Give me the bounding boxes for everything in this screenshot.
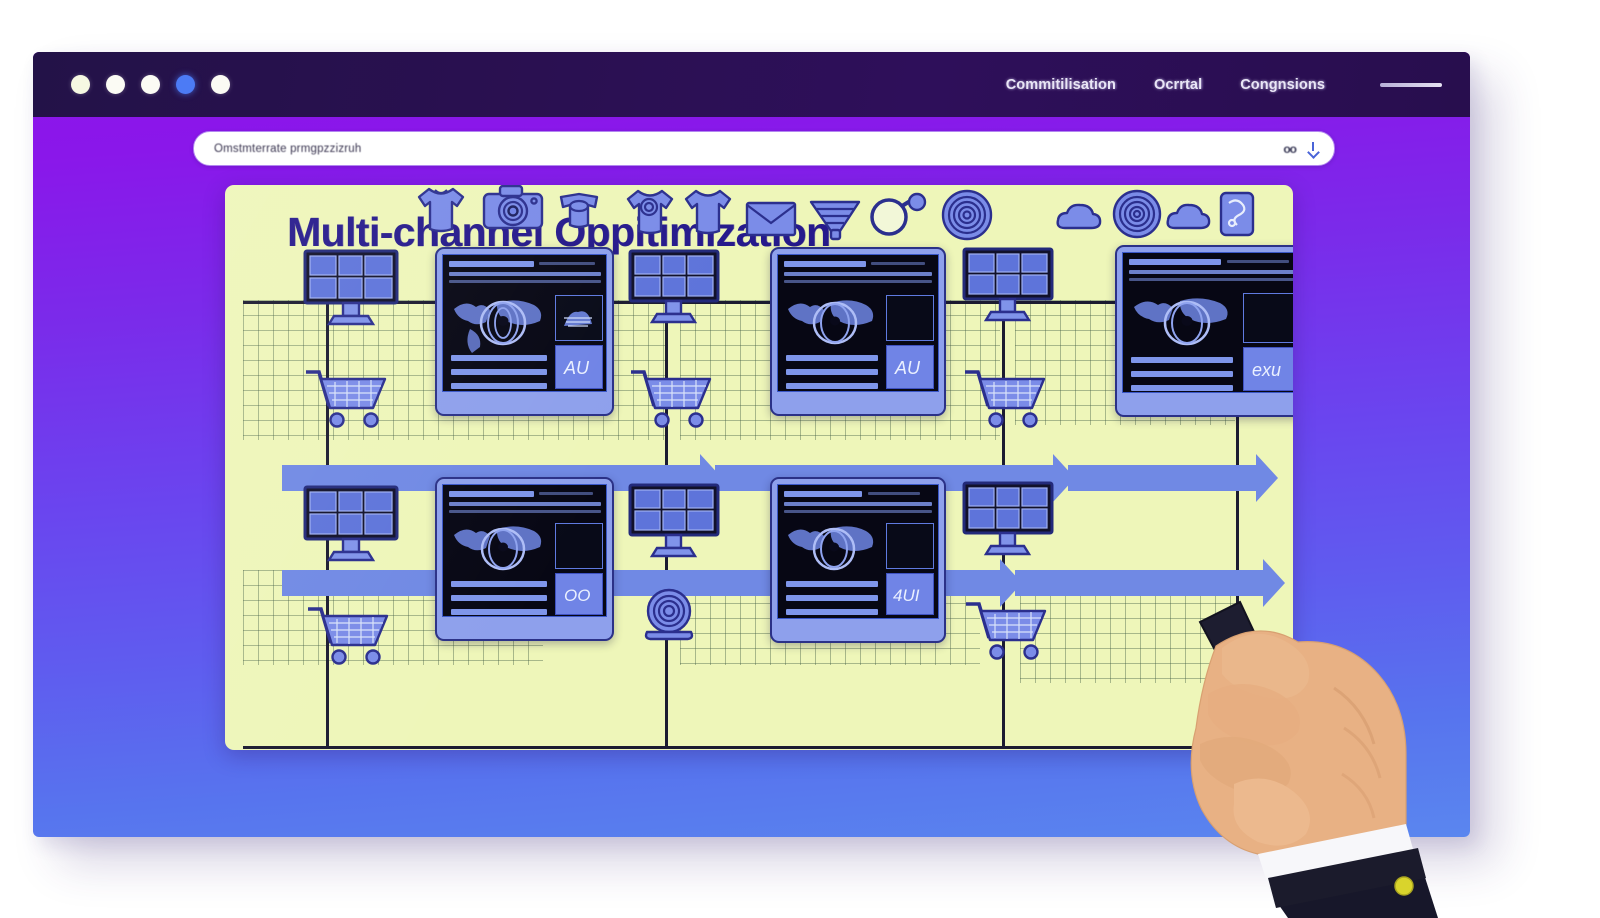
window-controls[interactable] [71, 75, 230, 94]
window-dot-2[interactable] [106, 75, 125, 94]
dashboard-screen: AU [442, 254, 607, 392]
cloud-icon [1165, 201, 1211, 233]
svg-text:4UI: 4UI [893, 586, 920, 605]
dashboard-screen: exu [1122, 252, 1293, 393]
arrow-row1-c [1068, 465, 1258, 491]
nav-link-2[interactable]: Ocrrtal [1154, 77, 1202, 93]
cuff-button [1395, 877, 1413, 895]
dashboard-panel: AU [435, 247, 614, 416]
hand-holding-stylus [1138, 578, 1438, 918]
cart-icon [963, 600, 1049, 662]
search-input[interactable]: Omstmterrate prmgpzzizruh [214, 143, 362, 155]
camera-icon [480, 185, 548, 238]
dashboard-panel: OO [435, 477, 614, 641]
monitor [962, 481, 1054, 559]
svg-text:exu: exu [1252, 360, 1281, 380]
diagram-canvas: Multi-channel Oppitimization [225, 185, 1293, 750]
svg-text:AU: AU [563, 358, 590, 378]
dashboard-panel: 4UI [770, 477, 946, 643]
download-icon[interactable] [1308, 142, 1318, 156]
search-actions: oo [1283, 132, 1318, 165]
nav-links: Commitilisation Ocrrtal Congnsions [1006, 52, 1325, 117]
cart-icon [305, 605, 391, 667]
window-dot-4-active[interactable] [176, 75, 195, 94]
monitor [303, 485, 399, 563]
window-dot-3[interactable] [141, 75, 160, 94]
screenshot-root: Commitilisation Ocrrtal Congnsions Omstm… [0, 0, 1600, 914]
envelope-icon [744, 199, 798, 239]
panel-chart [555, 295, 603, 341]
browser-titlebar: Commitilisation Ocrrtal Congnsions [33, 52, 1470, 117]
tshirt-icon [555, 191, 603, 233]
menu-bar-icon[interactable] [1380, 83, 1442, 87]
svg-text:OO: OO [564, 586, 590, 605]
tshirt-icon [413, 185, 469, 237]
monitor [628, 249, 720, 327]
dashboard-panel: exu [1115, 245, 1293, 417]
nav-link-3[interactable]: Congnsions [1240, 77, 1325, 93]
cart-icon [303, 368, 389, 430]
spiral-icon [1109, 188, 1165, 240]
tshirt-icon [622, 185, 678, 239]
monitor [962, 247, 1054, 325]
search-row: Omstmterrate prmgpzzizruh oo [33, 117, 1470, 177]
dashboard-screen: OO [442, 484, 607, 617]
spiral-icon [938, 188, 996, 242]
search-bar[interactable]: Omstmterrate prmgpzzizruh oo [193, 131, 1335, 166]
magnifier-icon [867, 193, 929, 243]
window-dot-1[interactable] [71, 75, 90, 94]
cart-icon [962, 368, 1048, 430]
svg-text:AU: AU [894, 358, 921, 378]
monitor [628, 483, 720, 561]
nav-link-1[interactable]: Commitilisation [1006, 77, 1116, 93]
cart-icon [628, 368, 714, 430]
glasses-icon[interactable]: oo [1283, 142, 1296, 156]
monitor [303, 249, 399, 327]
dashboard-screen: AU [777, 254, 939, 392]
divider-bottom [243, 746, 1238, 749]
funnel-icon [807, 197, 863, 243]
panel-badge: AU [555, 345, 603, 389]
dashboard-screen: 4UI [777, 484, 939, 619]
tablet-icon [1217, 191, 1257, 239]
dashboard-panel: AU [770, 247, 946, 416]
window-dot-5[interactable] [211, 75, 230, 94]
cloud-icon [1055, 201, 1103, 233]
tshirt-icon [680, 185, 736, 239]
spiral-icon [635, 587, 703, 645]
